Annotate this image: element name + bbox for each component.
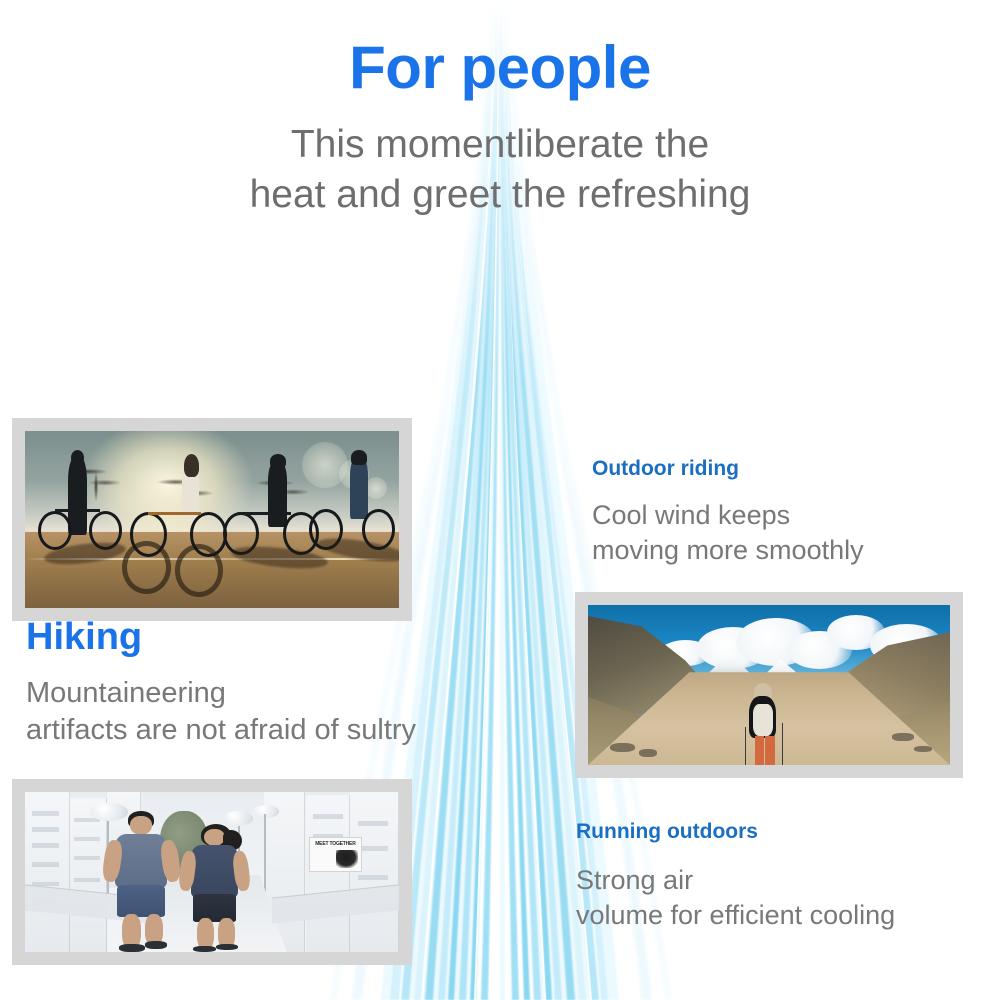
section-hiking-body: Mountaineering artifacts are not afraid … <box>26 675 496 750</box>
mountain-hiker-photo <box>588 605 950 765</box>
page-subtitle: This momentliberate the heat and greet t… <box>0 120 1000 220</box>
section-outdoor-riding-body-line-1: Cool wind keeps <box>592 498 982 533</box>
poster-line-1: MEET <box>315 841 328 847</box>
male-runner-shirt <box>115 834 167 888</box>
hiker-backpack <box>753 704 773 736</box>
street-lamp-pole <box>264 814 266 891</box>
poster-runner-silhouette <box>336 850 357 867</box>
female-runner-shoe <box>193 946 215 952</box>
building-window <box>74 856 100 860</box>
male-runner-shoe <box>145 941 167 949</box>
trail-rock <box>914 746 932 752</box>
section-hiking-title: Hiking <box>26 617 496 659</box>
city-building <box>25 792 70 952</box>
page-subtitle-line-1: This momentliberate the <box>0 120 1000 170</box>
shadow-wheel <box>122 541 171 594</box>
urban-runners-photo: MEET TOGETHER <box>25 792 399 952</box>
trail-rock <box>892 733 914 741</box>
hiker-photo-frame <box>575 592 963 778</box>
trail-rock <box>639 749 657 757</box>
shadow-wheel <box>175 544 224 597</box>
cyclist-helmet <box>351 450 367 464</box>
section-hiking: Hiking Mountaineering artifacts are not … <box>26 617 496 750</box>
bicycle-frame <box>55 509 100 512</box>
section-outdoor-riding-title: Outdoor riding <box>592 457 982 480</box>
cyclist-hair <box>184 454 199 477</box>
building-window <box>358 875 388 880</box>
cyclist-helmet <box>270 454 286 468</box>
street-lamp-head <box>223 811 253 825</box>
poster-text: MEET TOGETHER <box>310 842 360 847</box>
meet-together-poster: MEET TOGETHER <box>309 837 361 872</box>
building-window <box>32 843 58 848</box>
cyclist-figure <box>350 459 367 519</box>
section-running-outdoors-title: Running outdoors <box>576 820 976 843</box>
hiker-leg <box>765 736 774 765</box>
trekking-pole <box>745 727 746 765</box>
cyclists-at-sunset-photo <box>25 431 399 608</box>
building-window <box>313 814 343 819</box>
bicycle-frame <box>238 512 290 515</box>
building-window <box>358 846 388 851</box>
building-window <box>74 878 100 882</box>
building-window <box>74 837 100 841</box>
street-lamp-head <box>90 803 127 821</box>
building-window <box>32 811 58 816</box>
header: For people This momentliberate the heat … <box>0 0 1000 220</box>
cyclists-photo-frame <box>12 418 412 621</box>
building-window <box>32 827 58 832</box>
city-building <box>350 792 399 952</box>
poster-line-2: TOGETHER <box>330 841 356 847</box>
section-outdoor-riding-body-line-2: moving more smoothly <box>592 533 982 568</box>
trail-rock <box>610 743 635 753</box>
runners-photo-frame: MEET TOGETHER <box>12 779 412 965</box>
section-running-outdoors-body-line-2: volume for efficient cooling <box>576 898 976 933</box>
section-outdoor-riding: Outdoor riding Cool wind keeps moving mo… <box>592 457 982 568</box>
page-subtitle-line-2: heat and greet the refreshing <box>0 170 1000 220</box>
hiker-leg <box>755 736 764 765</box>
section-running-outdoors: Running outdoors Strong air volume for e… <box>576 820 976 933</box>
male-runner-shoe <box>119 944 145 952</box>
bicycle-frame <box>148 512 200 515</box>
trekking-pole <box>782 723 783 765</box>
section-outdoor-riding-body: Cool wind keeps moving more smoothly <box>592 498 982 568</box>
section-hiking-body-line-1: Mountaineering <box>26 675 496 713</box>
female-runner-shirt <box>191 845 238 898</box>
section-hiking-body-line-2: artifacts are not afraid of sultry <box>26 712 496 750</box>
male-runner-shorts <box>117 885 166 917</box>
section-running-outdoors-body-line-1: Strong air <box>576 863 976 898</box>
page-title: For people <box>0 0 1000 98</box>
cyclist-figure <box>268 463 287 527</box>
building-window <box>32 862 58 867</box>
section-running-outdoors-body: Strong air volume for efficient cooling <box>576 863 976 933</box>
bicycle-wheel <box>38 511 72 550</box>
building-window <box>358 821 388 826</box>
